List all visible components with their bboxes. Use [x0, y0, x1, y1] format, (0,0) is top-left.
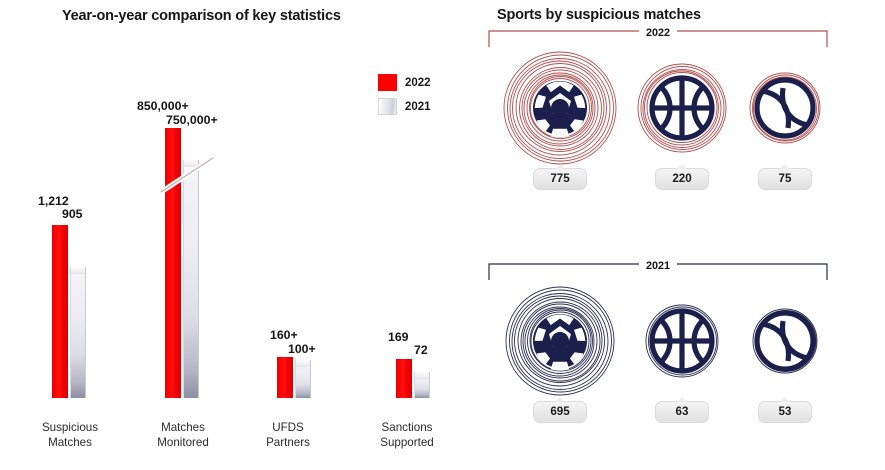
category-label-0-line2: Matches	[48, 436, 92, 449]
bar-2021-suspicious-matches	[70, 267, 86, 398]
bar-value-2021-2: 100+	[288, 342, 316, 356]
bar-2021-sanctions-supported	[414, 372, 430, 398]
bar-2022-matches-monitored	[165, 128, 181, 398]
bar-value-2021-3: 72	[414, 343, 428, 357]
category-label-3-line2: Supported	[380, 436, 434, 449]
category-label-2: UFDS Partners	[240, 420, 336, 450]
sport-item-football-2022[interactable]: 775	[495, 48, 625, 190]
bar-chart-panel: Year-on-year comparison of key statistic…	[0, 0, 470, 470]
category-label-1-line1: Matches	[161, 421, 205, 434]
category-label-0: Suspicious Matches	[22, 420, 118, 450]
category-label-1: Matches Monitored	[135, 420, 231, 450]
bar-2021-matches-monitored	[183, 160, 199, 398]
bar-2022-suspicious-matches	[52, 225, 68, 398]
sport-value-pill: 695	[533, 401, 587, 423]
bar-value-2021-1: 750,000+	[166, 113, 218, 127]
category-label-2-line2: Partners	[266, 436, 310, 449]
bar-value-2022-2: 160+	[270, 328, 298, 342]
soccer-ball-icon-wrap-2022	[495, 48, 625, 168]
bar-value-2021-0: 905	[62, 207, 83, 221]
bar-plot-area: 1,212 905 Suspicious Matches 850,000+ 75…	[0, 0, 470, 470]
sport-value-pill: 63	[655, 401, 709, 423]
year-label-2021: 2021	[639, 260, 677, 272]
sports-row-2021: 695	[470, 281, 885, 461]
category-label-2-line1: UFDS	[272, 421, 304, 434]
soccer-ball-icon-wrap-2021	[495, 281, 625, 401]
bar-2021-ufds-partners	[295, 360, 311, 398]
soccer-ball-icon	[500, 281, 620, 401]
year-label-2022: 2022	[639, 27, 677, 39]
bar-value-2022-0: 1,212	[38, 194, 69, 208]
sports-panel: Sports by suspicious matches 2022	[470, 0, 885, 470]
tennis-ball-icon-wrap-2021	[720, 281, 850, 401]
sport-value-pill: 220	[655, 168, 709, 190]
tennis-ball-icon	[735, 58, 835, 158]
sport-item-tennis-2022[interactable]: 75	[720, 48, 850, 190]
sport-value-pill: 75	[758, 168, 812, 190]
sports-panel-title: Sports by suspicious matches	[497, 7, 701, 23]
category-label-1-line2: Monitored	[157, 436, 209, 449]
sport-value-pill: 53	[758, 401, 812, 423]
year-bracket-2021: 2021	[488, 261, 828, 281]
bar-value-2022-3: 169	[388, 330, 409, 344]
bar-2022-ufds-partners	[277, 357, 293, 398]
bar-2022-sanctions-supported	[396, 359, 412, 398]
category-label-3-line1: Sanctions	[382, 421, 433, 434]
sports-row-2022: 775	[470, 48, 885, 228]
year-bracket-2022: 2022	[488, 28, 828, 48]
sport-item-tennis-2021[interactable]: 53	[720, 281, 850, 423]
sport-value-pill: 775	[533, 168, 587, 190]
bar-value-2022-1: 850,000+	[137, 99, 189, 113]
tennis-ball-icon	[735, 291, 835, 391]
category-label-3: Sanctions Supported	[359, 420, 455, 450]
category-label-0-line1: Suspicious	[42, 421, 98, 434]
soccer-ball-icon	[500, 48, 620, 168]
sport-item-football-2021[interactable]: 695	[495, 281, 625, 423]
tennis-ball-icon-wrap-2022	[720, 48, 850, 168]
